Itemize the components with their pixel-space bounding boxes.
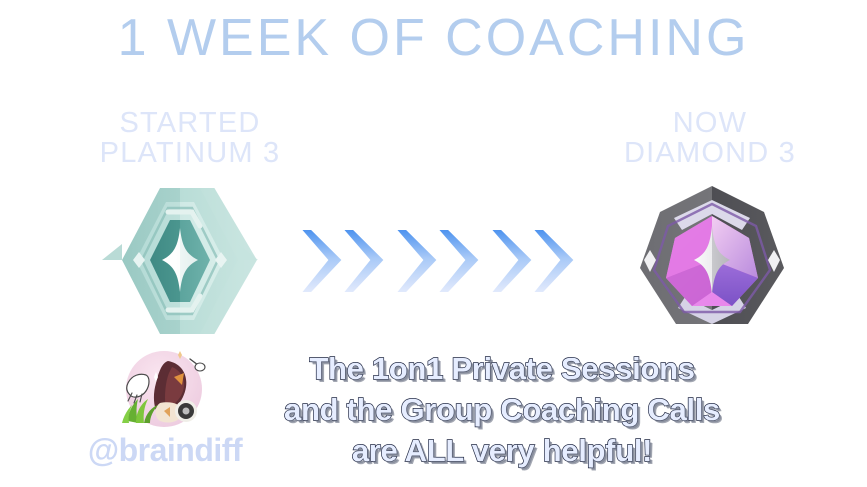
- caption-line-1: The 1on1 Private Sessions: [247, 348, 757, 389]
- platinum-rank-emblem-icon: [90, 182, 290, 342]
- caption-line-3: are ALL very helpful!: [247, 430, 757, 471]
- profile-avatar-icon: [112, 345, 210, 433]
- right-rank-tier: DIAMOND 3: [560, 138, 860, 168]
- author-handle: @braindiff: [60, 432, 270, 469]
- double-chevron-right-icon: [296, 224, 576, 304]
- left-rank-label: STARTED PLATINUM 3: [40, 108, 340, 169]
- testimonial-caption: The 1on1 Private Sessions and the Group …: [247, 348, 757, 472]
- caption-line-2: and the Group Coaching Calls: [247, 389, 757, 430]
- page-title: 1 WEEK OF COACHING: [0, 6, 867, 71]
- left-rank-status: STARTED: [40, 108, 340, 138]
- diamond-rank-emblem-icon: [612, 182, 812, 342]
- left-rank-tier: PLATINUM 3: [40, 138, 340, 168]
- right-rank-label: NOW DIAMOND 3: [560, 108, 860, 169]
- right-rank-status: NOW: [560, 108, 860, 138]
- coaching-progress-card: 1 WEEK OF COACHING STARTED PLATINUM 3 NO…: [0, 0, 867, 487]
